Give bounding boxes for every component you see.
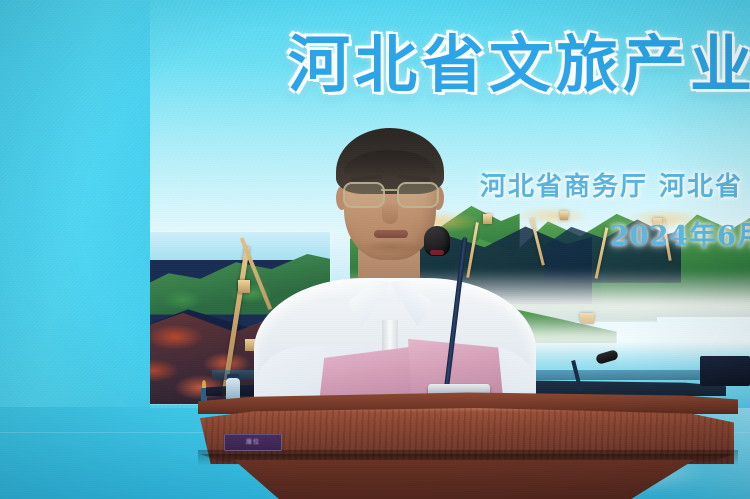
lens-left bbox=[343, 182, 385, 208]
microphone-red-band bbox=[430, 250, 444, 255]
nose bbox=[382, 202, 398, 224]
podium-base bbox=[234, 460, 694, 499]
chin-shadow bbox=[358, 240, 424, 254]
photo-watchtower bbox=[238, 280, 250, 293]
backdrop-date: 2024年6月 bbox=[610, 214, 750, 253]
screenshot-canvas: 河北省文旅产业重点 河北省商务厅 河北省 2024年6月 bbox=[0, 0, 750, 499]
confidence-monitor bbox=[700, 356, 750, 386]
lens-right bbox=[397, 182, 439, 208]
glasses-bridge bbox=[381, 189, 397, 191]
speaker-figure bbox=[262, 130, 522, 420]
podium: 席位 bbox=[198, 392, 738, 499]
backdrop-title: 河北省文旅产业重点 bbox=[288, 14, 750, 104]
watchtower bbox=[560, 211, 568, 220]
podium-nameplate: 席位 bbox=[224, 434, 282, 451]
podium-nameplate-text: 席位 bbox=[225, 437, 281, 446]
mouth bbox=[374, 230, 408, 238]
